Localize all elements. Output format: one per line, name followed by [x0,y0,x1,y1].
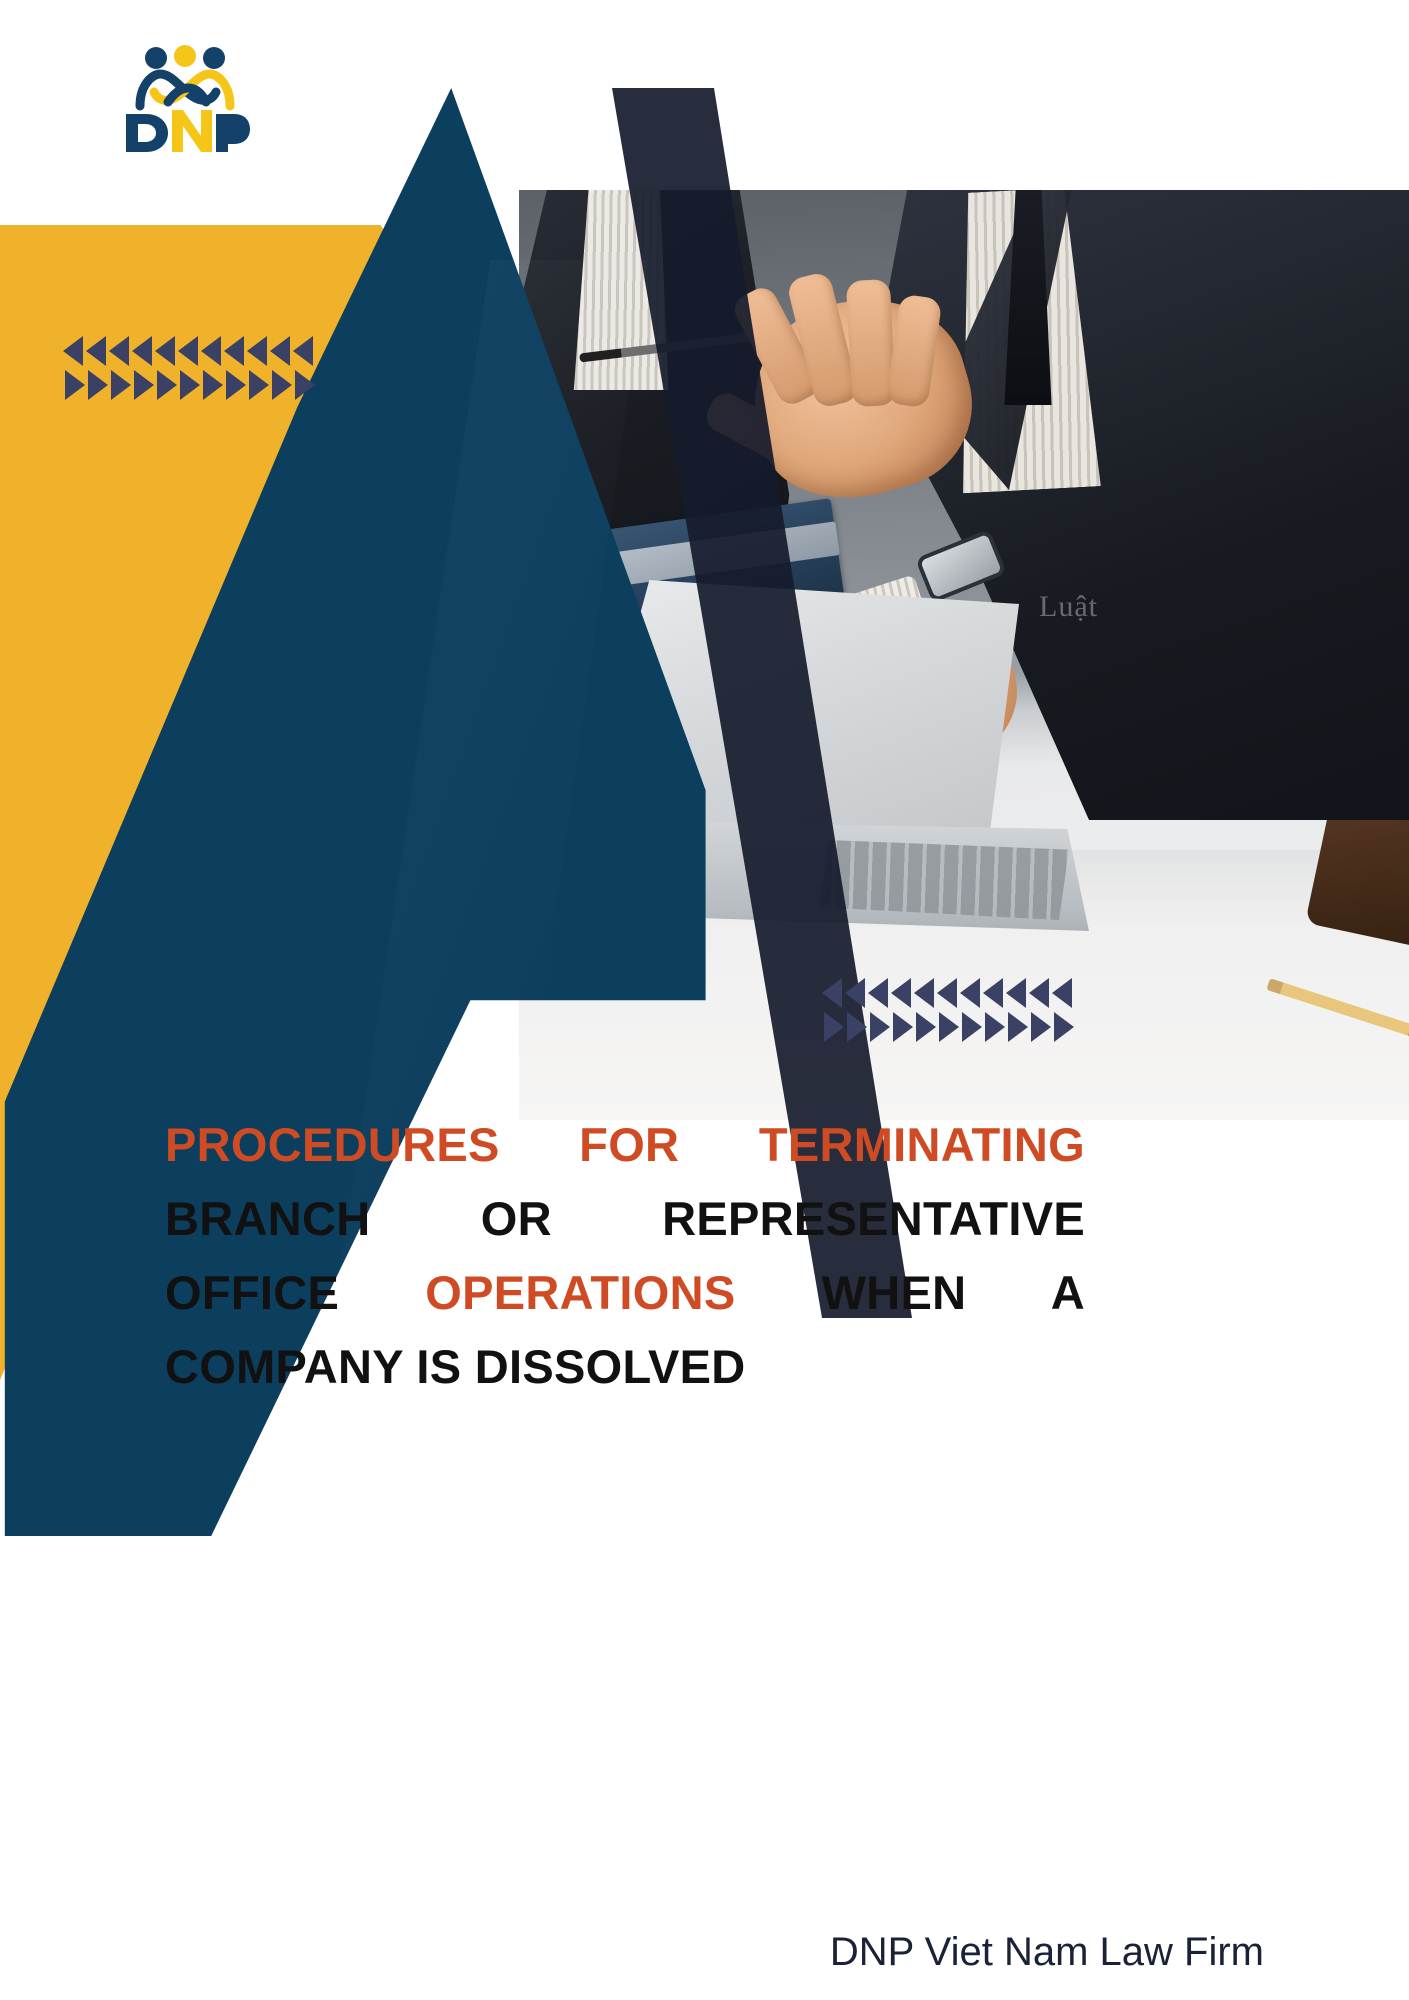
dnp-logo-icon [120,44,250,154]
chevron-right-icon [180,370,200,400]
chevron-right-icon [1008,1012,1028,1042]
chevron-left-icon [178,336,198,366]
chevron-right-icon [226,370,246,400]
chevron-right-icon [157,370,177,400]
chevron-left-icon [86,336,106,366]
chevron-right-icon [111,370,131,400]
title-line-4: COMPANY IS DISSOLVED [165,1330,1085,1404]
chevron-right-icon [916,1012,936,1042]
arrow-decoration-bottom [822,978,1077,1042]
arrow-row-left [822,978,1077,1008]
chevron-left-icon [247,336,267,366]
chevron-left-icon [132,336,152,366]
photo-watermark: Luật [1039,590,1098,624]
chevron-left-icon [1029,978,1049,1008]
footer-organization: DNP Viet Nam Law Firm [0,1930,1409,1975]
chevron-left-icon [270,336,290,366]
photo-laptop-keyboard [819,840,1069,920]
chevron-left-icon [891,978,911,1008]
chevron-left-icon [1052,978,1072,1008]
chevron-right-icon [249,370,269,400]
chevron-left-icon [822,978,842,1008]
arrow-row-right [65,370,318,400]
chevron-right-icon [65,370,85,400]
chevron-right-icon [1031,1012,1051,1042]
dnp-logo[interactable] [120,44,250,154]
title-line-1: PROCEDURES FOR TERMINATING [165,1108,1085,1182]
title-line-3-part-c: WHEN A [822,1266,1085,1319]
title-line-2: BRANCH OR REPRESENTATIVE [165,1182,1085,1256]
chevron-right-icon [962,1012,982,1042]
chevron-right-icon [985,1012,1005,1042]
chevron-left-icon [201,336,221,366]
title-line-3-accent: OPERATIONS [425,1266,735,1319]
chevron-right-icon [1054,1012,1074,1042]
chevron-right-icon [939,1012,959,1042]
chevron-left-icon [914,978,934,1008]
chevron-left-icon [845,978,865,1008]
chevron-right-icon [870,1012,890,1042]
chevron-right-icon [295,370,315,400]
arrow-row-right [824,1012,1077,1042]
chevron-right-icon [893,1012,913,1042]
chevron-left-icon [224,336,244,366]
chevron-right-icon [272,370,292,400]
chevron-left-icon [293,336,313,366]
chevron-left-icon [63,336,83,366]
chevron-left-icon [1006,978,1026,1008]
page-title: PROCEDURES FOR TERMINATING BRANCH OR REP… [165,1108,1085,1404]
chevron-right-icon [847,1012,867,1042]
chevron-right-icon [88,370,108,400]
arrow-decoration-top [63,336,318,400]
title-line-3: ​OFFICE OPERATIONS WHEN A [165,1256,1085,1330]
cover-page: Luật [0,0,1409,2000]
title-line-3-part-a: OFFICE [165,1266,339,1319]
arrow-row-left [63,336,318,366]
chevron-right-icon [824,1012,844,1042]
chevron-left-icon [109,336,129,366]
chevron-left-icon [983,978,1003,1008]
chevron-left-icon [868,978,888,1008]
chevron-left-icon [937,978,957,1008]
chevron-right-icon [203,370,223,400]
chevron-left-icon [960,978,980,1008]
chevron-left-icon [155,336,175,366]
chevron-right-icon [134,370,154,400]
